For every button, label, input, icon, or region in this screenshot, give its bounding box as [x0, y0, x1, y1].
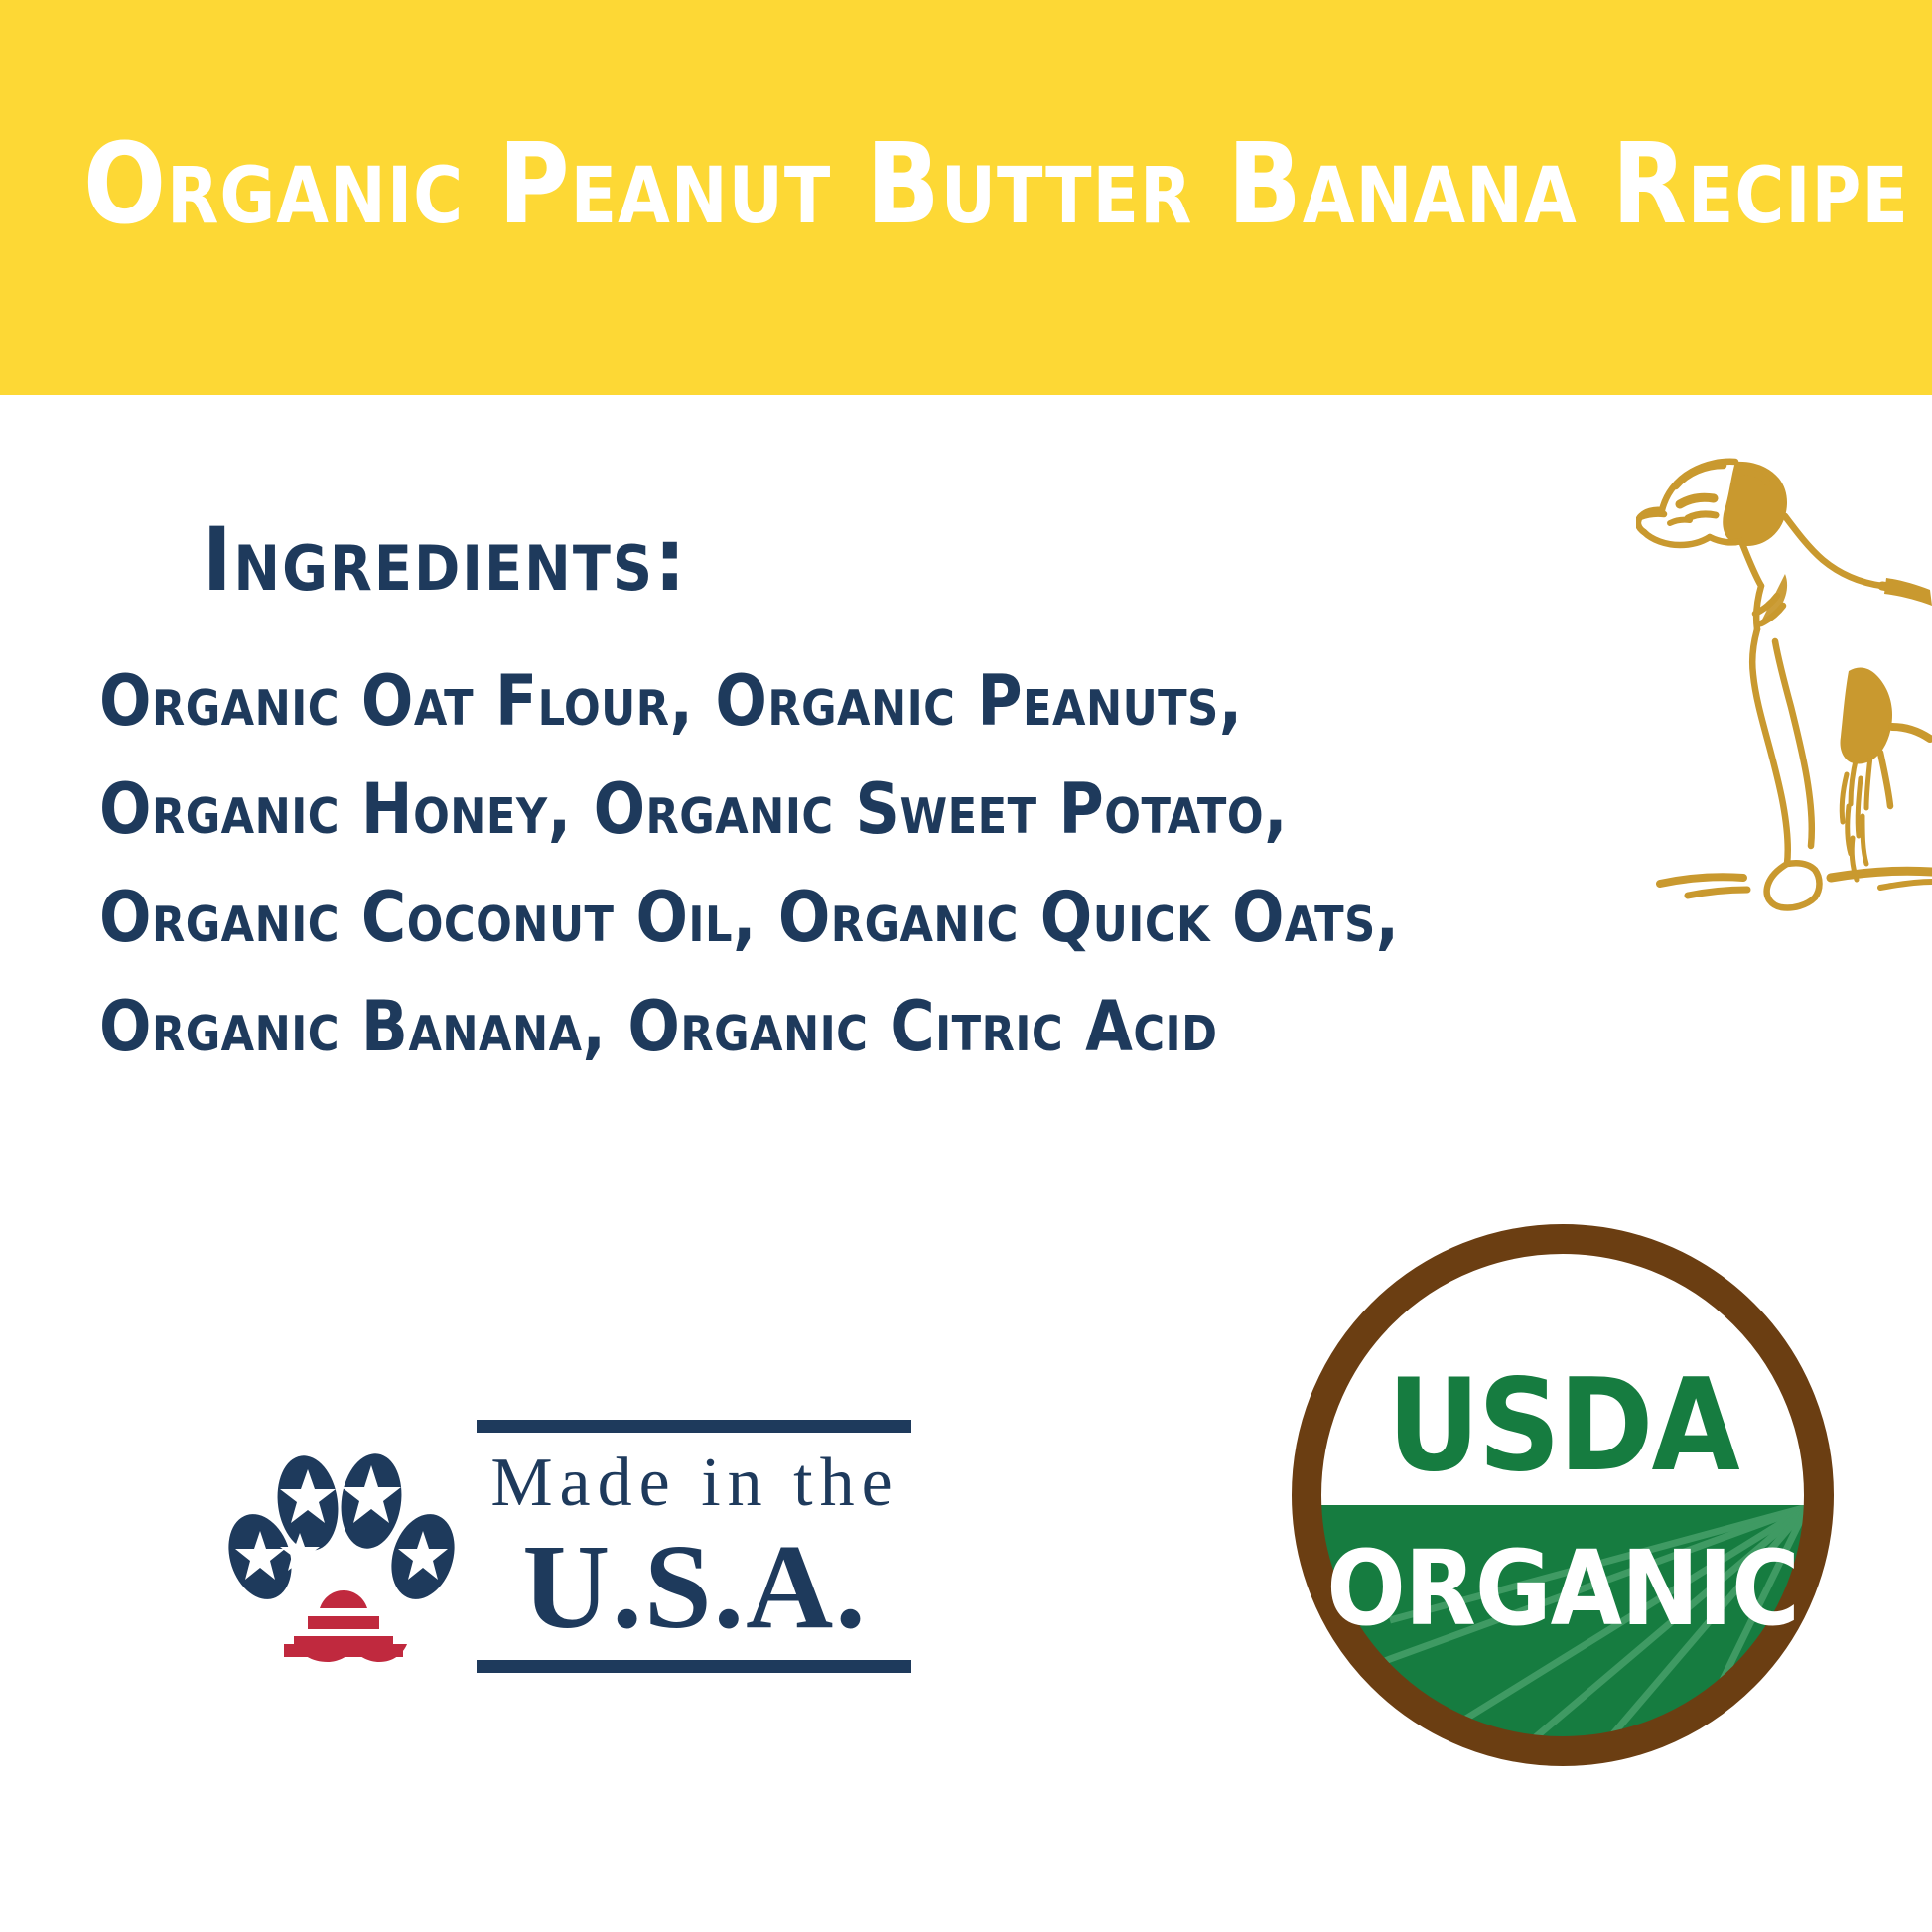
header-band: Organic Peanut Butter Banana Recipe [0, 0, 1932, 395]
organic-label: ORGANIC [1326, 1528, 1799, 1649]
patriotic-paw-print-icon [228, 1426, 459, 1669]
ingredients-heading: Ingredients: [203, 516, 1340, 604]
page-title: Organic Peanut Butter Banana Recipe [83, 127, 1817, 244]
made-in-usa-text-group: Made in the U.S.A. [477, 1420, 913, 1673]
dog-line-art-icon [1636, 429, 1932, 925]
ingredient-line: Organic Coconut Oil, Organic Quick Oats, [99, 864, 1315, 972]
usda-organic-seal-svg: USDA ORGANIC [1271, 1203, 1855, 1787]
made-in-usa-badge: Made in the U.S.A. [228, 1420, 913, 1668]
paw-print-svg [228, 1426, 459, 1664]
usa-label: U.S.A. [477, 1525, 913, 1660]
ingredients-section: Ingredients: Organic Oat Flour, Organic … [99, 516, 1340, 1081]
ingredient-line: Organic Banana, Organic Citric Acid [99, 973, 1315, 1081]
ingredient-line: Organic Oat Flour, Organic Peanuts, [99, 647, 1315, 756]
usda-organic-seal: USDA ORGANIC [1271, 1203, 1855, 1787]
divider-bottom [477, 1660, 911, 1673]
made-in-the-label: Made in the [477, 1433, 913, 1525]
usda-label: USDA [1387, 1352, 1739, 1500]
ingredient-line: Organic Honey, Organic Sweet Potato, [99, 756, 1315, 864]
dog-line-art-svg [1636, 429, 1932, 925]
divider-top [477, 1420, 911, 1433]
